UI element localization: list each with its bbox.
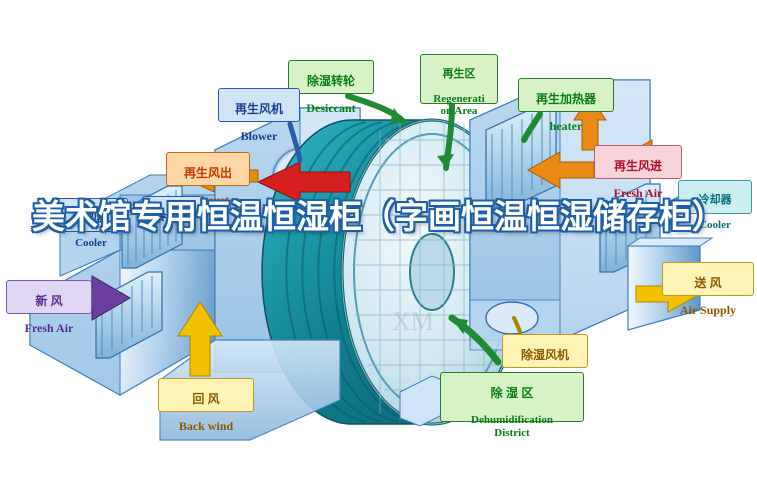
- label-return-air-en: Back wind: [162, 420, 250, 433]
- label-dehumidification-blower: 除湿风机 Blower: [502, 334, 588, 368]
- label-air-supply-cn: 送 风: [666, 277, 750, 290]
- label-air-supply-en: Air Supply: [666, 304, 750, 317]
- label-regeneration-area: 再生区 Regenerati on Area: [420, 54, 498, 104]
- label-regeneration-heater-cn: 再生加热器: [522, 93, 610, 106]
- label-cooler-middle-cn: 冷却器: [146, 211, 198, 223]
- label-regeneration-heater: 再生加热器 heater: [518, 78, 614, 112]
- label-return-air-cn: 回 风: [162, 393, 250, 406]
- label-dehumidification-district-en: Dehumidification District: [444, 414, 580, 439]
- label-regeneration-blower: 再生风机 Blower: [218, 88, 300, 122]
- label-regeneration-exhaust: 再生风出 Exhaust: [166, 152, 250, 186]
- label-cooler-left-en: Cooler: [58, 237, 124, 249]
- label-desiccant-wheel-en: Desiccant: [292, 102, 370, 115]
- label-regeneration-fresh-air-in: 再生风进 Fresh Air: [594, 145, 682, 179]
- label-cooler-right-cn: 冷却器: [682, 194, 748, 206]
- label-regeneration-area-en: Regenerati on Area: [424, 93, 494, 118]
- label-fresh-air-inlet-en: Fresh Air: [10, 322, 88, 335]
- label-desiccant-wheel: 除湿转轮 Desiccant: [288, 60, 374, 94]
- label-regeneration-fresh-air-in-en: Fresh Air: [598, 187, 678, 200]
- label-regeneration-fresh-air-in-cn: 再生风进: [598, 160, 678, 173]
- watermark: XM: [392, 307, 434, 336]
- label-regeneration-blower-en: Blower: [222, 130, 296, 143]
- label-fresh-air-inlet-cn: 新 风: [10, 295, 88, 308]
- label-dehumidification-district-cn: 除 湿 区: [444, 387, 580, 400]
- label-cooler-middle: 冷却器: [142, 196, 202, 218]
- label-regeneration-blower-cn: 再生风机: [222, 103, 296, 116]
- label-fresh-air-inlet: 新 风 Fresh Air: [6, 280, 92, 314]
- label-cooler-right: 冷却器 Cooler: [678, 180, 752, 214]
- label-cooler-left: 冷却器 Cooler: [54, 198, 128, 232]
- label-regeneration-heater-en: heater: [522, 120, 610, 133]
- label-regeneration-area-cn: 再生区: [424, 68, 494, 80]
- label-regeneration-exhaust-cn: 再生风出: [170, 167, 246, 180]
- label-dehumidification-blower-cn: 除湿风机: [506, 349, 584, 362]
- label-dehumidification-district: 除 湿 区 Dehumidification District: [440, 372, 584, 422]
- label-return-air: 回 风 Back wind: [158, 378, 254, 412]
- diagram-canvas: XM 除湿转轮 Desiccant 再生区 Regenerati on Area…: [0, 0, 757, 488]
- label-air-supply: 送 风 Air Supply: [662, 262, 754, 296]
- label-cooler-right-en: Cooler: [682, 219, 748, 231]
- label-desiccant-wheel-cn: 除湿转轮: [292, 75, 370, 88]
- label-cooler-left-cn: 冷却器: [58, 212, 124, 224]
